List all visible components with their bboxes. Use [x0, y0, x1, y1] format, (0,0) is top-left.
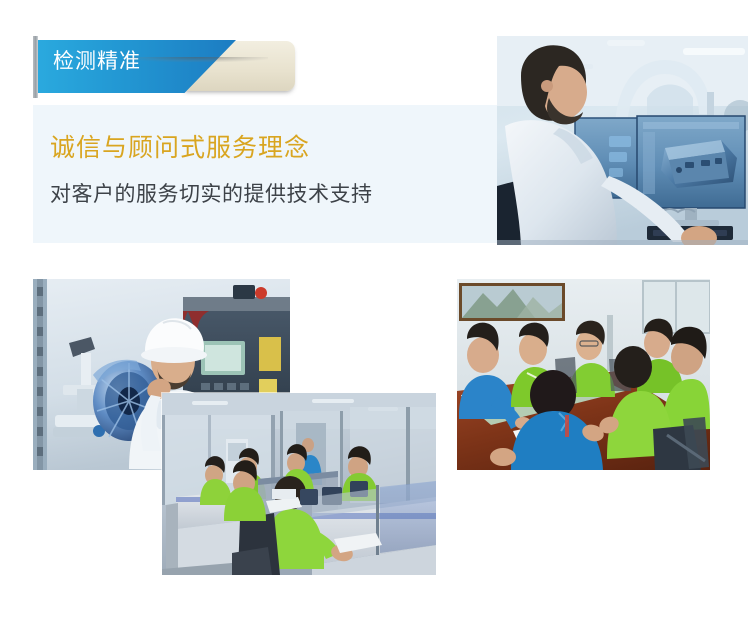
page-root: 检测精准 诚信与顾问式服务理念 对客户的服务切实的提供技术支持: [0, 0, 748, 627]
banner-shadow: [128, 57, 268, 62]
section-text-panel: 诚信与顾问式服务理念 对客户的服务切实的提供技术支持: [33, 105, 497, 243]
banner-pole: [33, 36, 38, 98]
banner-title: 检测精准: [53, 48, 141, 76]
photo-open-plan-office: [162, 393, 436, 575]
panel-subline: 对客户的服务切实的提供技术支持: [50, 180, 373, 210]
panel-headline: 诚信与顾问式服务理念: [50, 131, 310, 165]
photo-team-meeting-room: [457, 279, 710, 470]
section-banner: 检测精准: [33, 36, 298, 98]
photo-engineer-cad-workstation: [497, 36, 748, 245]
